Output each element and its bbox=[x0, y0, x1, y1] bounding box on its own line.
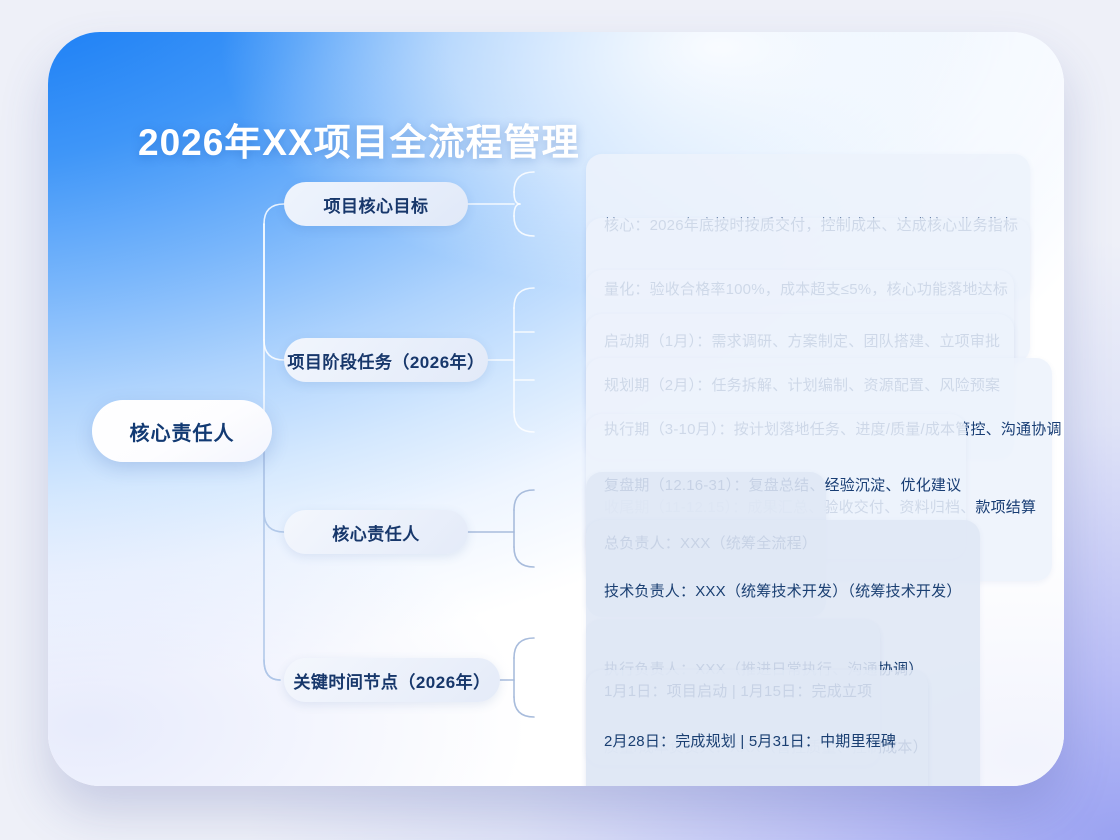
root-node[interactable]: 核心责任人 bbox=[92, 400, 272, 462]
page-title: 2026年XX项目全流程管理 bbox=[138, 112, 580, 166]
branch-node-project-core-goal[interactable]: 项目核心目标 bbox=[284, 182, 468, 226]
leaf-milestone-rest[interactable]: 2月28日：完成规划 | 5月31日：中期里程碑 10月31日：完成执行 | 1… bbox=[586, 670, 928, 786]
root-node-label: 核心责任人 bbox=[130, 417, 235, 446]
branch-node-core-owners[interactable]: 核心责任人 bbox=[284, 510, 468, 554]
branch-node-label: 核心责任人 bbox=[332, 520, 420, 545]
branch-node-label: 关键时间节点（2026年） bbox=[293, 668, 490, 693]
branch-node-phase-tasks[interactable]: 项目阶段任务（2026年） bbox=[284, 338, 488, 382]
leaf-text: 2月28日：完成规划 | 5月31日：中期里程碑 bbox=[604, 729, 910, 755]
branch-node-label: 项目阶段任务（2026年） bbox=[287, 348, 484, 373]
branch-node-label: 项目核心目标 bbox=[324, 192, 429, 217]
mindmap-page: 2026年XX项目全流程管理 核心责任人 项目核心目标 核心：2026年底按时按… bbox=[0, 0, 1120, 840]
mindmap-card: 2026年XX项目全流程管理 核心责任人 项目核心目标 核心：2026年底按时按… bbox=[48, 32, 1064, 786]
branch-node-key-milestones[interactable]: 关键时间节点（2026年） bbox=[284, 658, 500, 702]
leaf-text: 技术负责人：XXX（统筹技术开发）（统筹技术开发） bbox=[604, 579, 962, 605]
